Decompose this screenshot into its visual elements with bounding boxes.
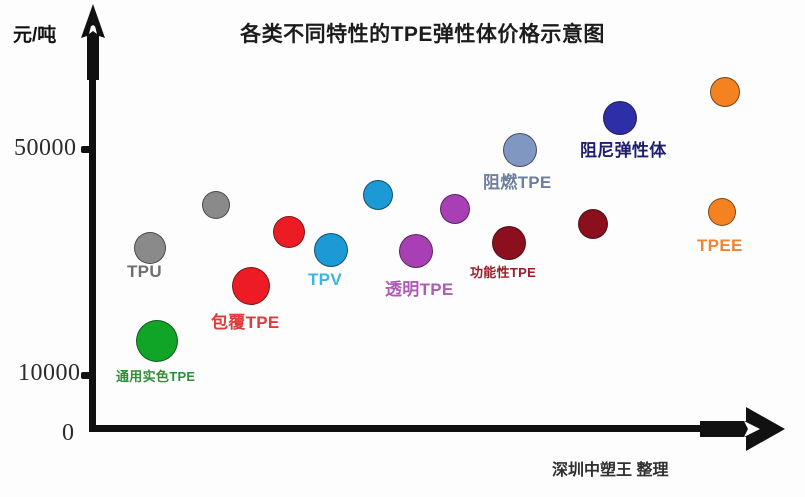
data-point-bubble bbox=[134, 232, 166, 264]
data-point-bubble bbox=[492, 226, 526, 260]
y-axis-unit-label: 元/吨 bbox=[13, 20, 56, 47]
series-label-4: 透明TPE bbox=[385, 275, 454, 300]
series-label-2: 包覆TPE bbox=[211, 308, 280, 333]
series-label-3: TPV bbox=[308, 270, 342, 290]
x-axis-arrow-icon bbox=[700, 405, 785, 453]
series-label-8: TPEE bbox=[697, 236, 743, 256]
y-tick-mark-10000 bbox=[81, 372, 94, 379]
data-point-bubble bbox=[232, 267, 270, 305]
y-tick-label-10000: 10000 bbox=[18, 360, 81, 387]
axis-origin-label: 0 bbox=[62, 420, 75, 447]
data-point-bubble bbox=[578, 209, 608, 239]
y-axis-arrow-icon bbox=[75, 4, 111, 80]
series-label-1: 通用实色TPE bbox=[116, 366, 195, 385]
data-point-bubble bbox=[440, 194, 470, 224]
series-label-6: 阻燃TPE bbox=[483, 168, 552, 193]
series-label-5: 功能性TPE bbox=[470, 262, 536, 281]
data-point-bubble bbox=[708, 198, 736, 226]
credit-text: 深圳中塑王 整理 bbox=[552, 456, 668, 480]
series-label-0: TPU bbox=[127, 262, 162, 282]
y-tick-mark-50000 bbox=[81, 146, 94, 153]
data-point-bubble bbox=[399, 234, 433, 268]
chart-canvas: 各类不同特性的TPE弹性体价格示意图 元/吨 50000 10000 0 TPU… bbox=[0, 0, 805, 497]
y-tick-label-50000: 50000 bbox=[14, 135, 77, 162]
data-point-bubble bbox=[503, 133, 537, 167]
data-point-bubble bbox=[363, 180, 393, 210]
data-point-bubble bbox=[136, 320, 178, 362]
data-point-bubble bbox=[603, 101, 637, 135]
page-title: 各类不同特性的TPE弹性体价格示意图 bbox=[0, 18, 805, 48]
x-axis-line bbox=[89, 425, 714, 432]
series-label-7: 阻尼弹性体 bbox=[580, 136, 667, 161]
data-point-bubble bbox=[273, 216, 305, 248]
data-point-bubble bbox=[314, 233, 348, 267]
data-point-bubble bbox=[202, 191, 230, 219]
data-point-bubble bbox=[710, 77, 740, 107]
